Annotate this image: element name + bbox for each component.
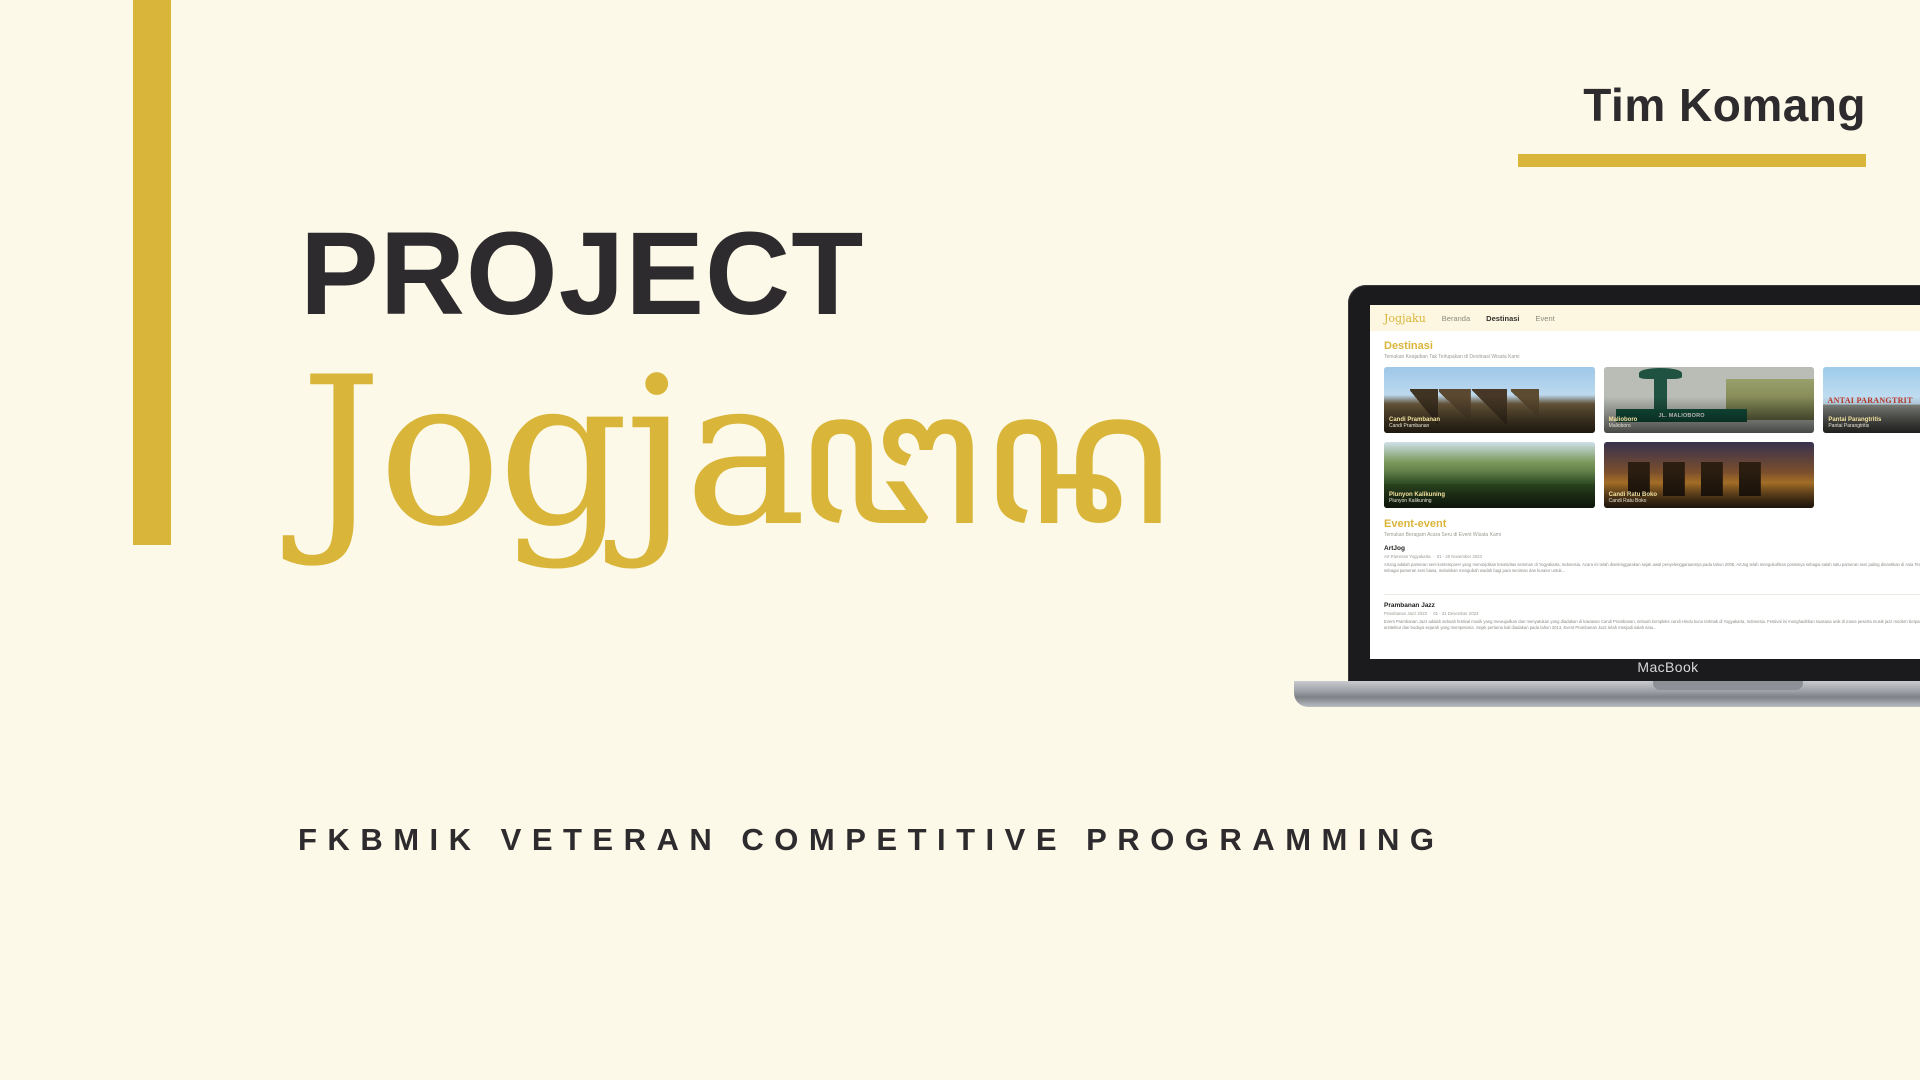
laptop-screen: Jogjaku Beranda Destinasi Event Destinas…	[1370, 305, 1920, 659]
event-item-author: Art Pameran Yogyakarta	[1384, 554, 1431, 559]
card-subtitle: Pantai Parangtritis	[1828, 423, 1881, 429]
event-item-title: Prambanan Jazz	[1384, 602, 1920, 609]
hero-subject-line: Jogjaꦔꦤ	[300, 351, 1200, 556]
event-item-date: 01 - 20 November 2023	[1437, 554, 1482, 559]
destination-card[interactable]: Candi Ratu Boko Candi Ratu Boko	[1604, 442, 1815, 508]
team-name: Tim Komang	[1518, 78, 1866, 132]
event-item-main: ArtJog Art Pameran Yogyakarta · 01 - 20 …	[1384, 545, 1920, 587]
nav-link-event[interactable]: Event	[1536, 314, 1555, 323]
card-caption: Candi Ratu Boko Candi Ratu Boko	[1609, 492, 1657, 504]
card-caption: Malioboro Malioboro	[1609, 417, 1638, 429]
destinasi-card-grid: Candi Prambanan Candi Prambanan JL. MALI…	[1384, 367, 1920, 508]
event-section-header: Event-event Temukan Beragam Acara Seru d…	[1384, 518, 1920, 538]
event-title: Event-event	[1384, 518, 1501, 530]
hero-headline-block: PROJECT Jogjaꦔꦤ	[300, 215, 1200, 556]
team-block: Tim Komang	[1518, 78, 1866, 167]
event-item-body: Event Prambanan Jazz adalah sebuah festi…	[1384, 619, 1920, 632]
event-subtitle: Temukan Beragam Acara Seru di Event Wisa…	[1384, 532, 1501, 538]
event-list-item[interactable]: ArtJog Art Pameran Yogyakarta · 01 - 20 …	[1384, 545, 1920, 587]
event-list-item[interactable]: Prambanan Jazz Prambanan Jazz 2023 · 01 …	[1384, 602, 1920, 644]
event-section: Event-event Temukan Beragam Acara Seru d…	[1384, 518, 1920, 644]
destinasi-subtitle: Temukan Keajaiban Tak Terlupakan di Dest…	[1384, 354, 1519, 360]
event-item-body: ArtJog adalah pameran seni kontemporer y…	[1384, 562, 1920, 575]
hero-subtitle: FKBMIK VETERAN COMPETITIVE PROGRAMMING	[298, 822, 1444, 858]
page-title: PROJECT	[300, 215, 1200, 333]
destination-card[interactable]: Candi Prambanan Candi Prambanan	[1384, 367, 1595, 433]
card-subtitle: Plunyon Kalikuning	[1389, 498, 1445, 504]
event-item-main: Prambanan Jazz Prambanan Jazz 2023 · 01 …	[1384, 602, 1920, 644]
card-subtitle: Candi Prambanan	[1389, 423, 1440, 429]
destinasi-section-header: Destinasi Temukan Keajaiban Tak Terlupak…	[1384, 340, 1920, 360]
website-body: Destinasi Temukan Keajaiban Tak Terlupak…	[1370, 331, 1920, 644]
team-name-underline	[1518, 154, 1866, 167]
website-logo[interactable]: Jogjaku	[1384, 312, 1426, 325]
event-item-author: Prambanan Jazz 2023	[1384, 611, 1427, 616]
laptop-base	[1294, 681, 1920, 707]
event-divider	[1384, 594, 1920, 595]
event-item-date: 01 - 31 Desember 2023	[1433, 611, 1478, 616]
card-caption: Pantai Parangtritis Pantai Parangtritis	[1828, 417, 1881, 429]
nav-link-beranda[interactable]: Beranda	[1442, 314, 1470, 323]
nav-link-destinasi[interactable]: Destinasi	[1486, 314, 1519, 323]
card-subtitle: Malioboro	[1609, 423, 1638, 429]
destination-card[interactable]: JL. MALIOBORO Malioboro Malioboro	[1604, 367, 1815, 433]
gold-accent-bar	[133, 0, 171, 545]
event-item-meta: Prambanan Jazz 2023 · 01 - 31 Desember 2…	[1384, 611, 1920, 616]
card-caption: Candi Prambanan Candi Prambanan	[1389, 417, 1440, 429]
destination-card[interactable]: Plunyon Kalikuning Plunyon Kalikuning	[1384, 442, 1595, 508]
website-navbar: Jogjaku Beranda Destinasi Event	[1370, 305, 1920, 331]
hero-subject-latin: Jogja	[300, 334, 803, 572]
laptop-notch	[1653, 681, 1803, 690]
laptop-mockup: Jogjaku Beranda Destinasi Event Destinas…	[1348, 285, 1920, 725]
destination-card[interactable]: ANTAI PARANGTRIT Pantai Parangtritis Pan…	[1823, 367, 1920, 433]
card-subtitle: Candi Ratu Boko	[1609, 498, 1657, 504]
card-caption: Plunyon Kalikuning Plunyon Kalikuning	[1389, 492, 1445, 504]
event-item-title: ArtJog	[1384, 545, 1920, 552]
hero-subject-javanese-script: ꦔꦤ	[797, 347, 1170, 568]
event-item-meta: Art Pameran Yogyakarta · 01 - 20 Novembe…	[1384, 554, 1920, 559]
laptop-lid: Jogjaku Beranda Destinasi Event Destinas…	[1348, 285, 1920, 685]
website-preview: Jogjaku Beranda Destinasi Event Destinas…	[1370, 305, 1920, 659]
destinasi-title: Destinasi	[1384, 340, 1519, 352]
macbook-brand-label: MacBook	[1348, 659, 1920, 675]
